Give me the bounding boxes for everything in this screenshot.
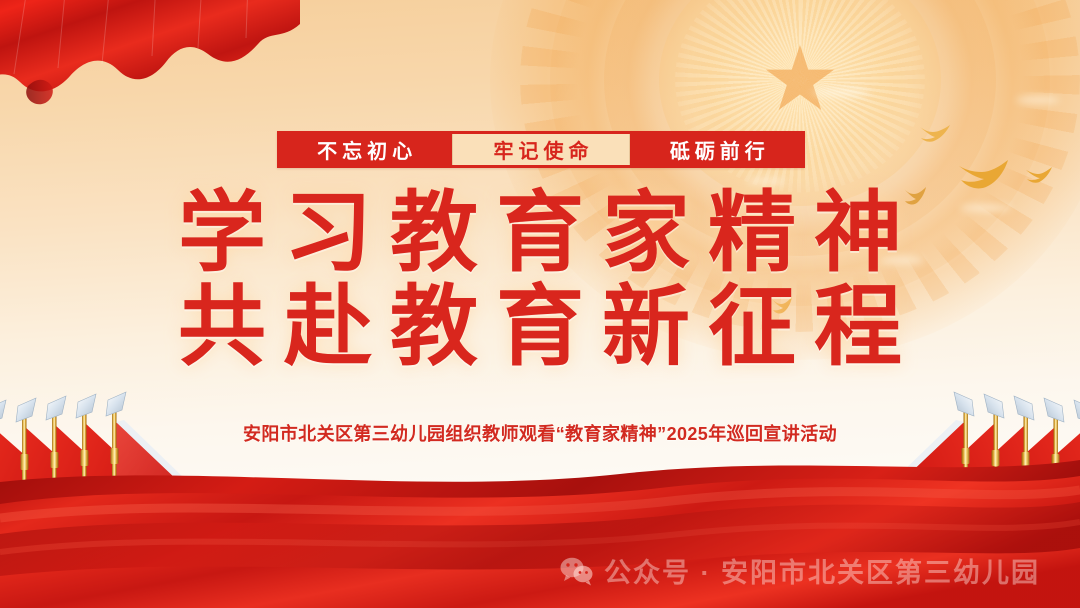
slogan-segment-2: 牢记使命 xyxy=(452,134,629,165)
cloud-wisp xyxy=(812,88,870,97)
watermark-text: 公众号 · 安阳市北关区第三幼儿园 xyxy=(604,551,1040,590)
poster-canvas: 不忘初心 牢记使命 砥砺前行 学习教育家精神 共赴教育新征程 安阳市北关区第三幼… xyxy=(0,0,1080,608)
wechat-icon xyxy=(560,556,594,586)
five-pointed-star-icon xyxy=(765,45,835,115)
title-line-1: 学习教育家精神 xyxy=(0,186,1080,280)
title-line-2: 共赴教育新征程 xyxy=(0,280,1080,374)
waving-flag-icon xyxy=(0,0,300,112)
dove-icon xyxy=(918,124,952,150)
slogan-banner: 不忘初心 牢记使命 砥砺前行 xyxy=(277,131,805,168)
slogan-segment-3: 砥砺前行 xyxy=(630,131,805,168)
dove-icon xyxy=(1024,166,1054,188)
main-title: 学习教育家精神 共赴教育新征程 xyxy=(0,186,1080,374)
slogan-segment-1: 不忘初心 xyxy=(277,131,452,168)
watermark: 公众号 · 安阳市北关区第三幼儿园 xyxy=(560,551,1040,590)
sunburst-core-glow xyxy=(659,0,941,206)
cloud-wisp xyxy=(1016,96,1060,104)
